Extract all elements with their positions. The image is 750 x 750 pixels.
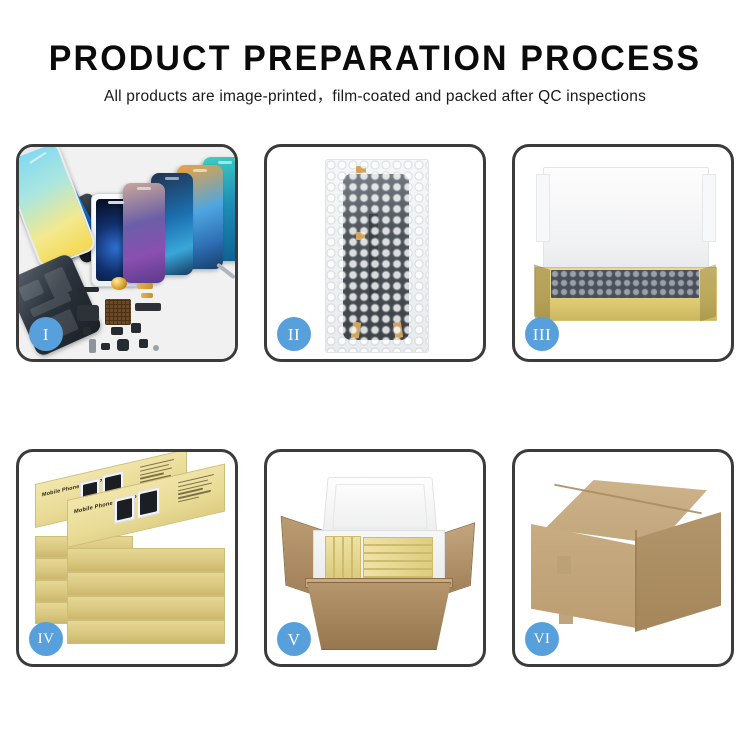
step-3-panel: III xyxy=(512,144,734,362)
step-4-panel: Mobile Phone Spare Parts xyxy=(16,449,238,667)
carton-tape-lower-icon xyxy=(559,608,573,624)
step-2-badge: II xyxy=(277,317,311,351)
box-lid-icon xyxy=(543,167,709,281)
stack-box-front-2 xyxy=(67,548,225,572)
carton-front-icon xyxy=(307,582,451,650)
carton-edge-icon xyxy=(635,530,637,630)
stack-box-front-3 xyxy=(67,572,225,596)
page-title: PRODUCT PREPARATION PROCESS xyxy=(11,40,739,78)
part-bar-icon xyxy=(77,287,99,292)
flex-cable-left-icon xyxy=(77,305,99,321)
bubble-wrapped-contents-icon xyxy=(551,270,699,298)
kraft-box-stack-icon: Mobile Phone Spare Parts xyxy=(33,466,225,656)
flex-cable-right-icon xyxy=(135,303,161,311)
step-5-badge: V xyxy=(277,622,311,656)
sim-tray-icon xyxy=(89,339,96,353)
chip-1-icon xyxy=(83,327,91,335)
open-kraft-box-icon xyxy=(535,167,715,337)
process-step-3: III xyxy=(512,144,734,362)
step-5-image: V xyxy=(267,452,483,664)
kraft-boxes-inside-icon xyxy=(323,536,433,584)
screw-set-icon xyxy=(153,345,159,351)
carton-tape-upper-icon xyxy=(557,556,571,574)
step-4-badge: IV xyxy=(29,622,63,656)
process-step-4: Mobile Phone Spare Parts xyxy=(16,449,238,667)
speaker-coil-icon xyxy=(111,277,127,290)
box-artwork-4 xyxy=(137,487,160,519)
step-2-image: II xyxy=(267,147,483,359)
step-2-panel: II xyxy=(264,144,486,362)
vibrator-icon xyxy=(139,339,148,348)
step-3-image: III xyxy=(515,147,731,359)
process-step-grid: I II xyxy=(16,144,734,674)
step-5-panel: V xyxy=(264,449,486,667)
product-preparation-infographic: PRODUCT PREPARATION PROCESS All products… xyxy=(0,0,750,750)
process-step-2: II xyxy=(264,144,486,362)
page-subtitle: All products are image-printed，film-coat… xyxy=(0,87,750,106)
gold-flex-2-icon xyxy=(141,293,153,298)
button-flex-icon xyxy=(101,343,110,350)
stack-box-front-5 xyxy=(67,620,225,644)
stack-box-front-4 xyxy=(67,596,225,620)
step-4-image: Mobile Phone Spare Parts xyxy=(19,452,235,664)
camera-module-icon xyxy=(117,339,129,351)
step-6-image: VI xyxy=(515,452,731,664)
step-3-badge: III xyxy=(525,317,559,351)
header: PRODUCT PREPARATION PROCESS All products… xyxy=(0,40,750,106)
phone-screen-purple-icon xyxy=(123,183,165,283)
connector-grid-icon xyxy=(105,299,131,325)
process-step-5: V xyxy=(264,449,486,667)
process-step-6: VI xyxy=(512,449,734,667)
box-fold-left-icon xyxy=(534,264,550,321)
process-step-1: I xyxy=(16,144,238,362)
sealed-carton-icon xyxy=(531,480,721,644)
box-fold-right-icon xyxy=(700,264,716,321)
bubble-texture xyxy=(326,160,428,352)
open-carton-icon xyxy=(285,474,471,650)
step-6-panel: VI xyxy=(512,449,734,667)
box-spec-lines-front xyxy=(178,474,214,505)
step-6-badge: VI xyxy=(525,622,559,656)
step-1-panel: I xyxy=(16,144,238,362)
bubble-wrap-pouch-icon xyxy=(325,159,429,353)
foam-lid-icon xyxy=(322,477,438,538)
chip-2-icon xyxy=(111,327,123,335)
step-1-badge: I xyxy=(29,317,63,351)
box-artwork-3 xyxy=(114,494,135,524)
gold-flex-icon xyxy=(137,283,153,289)
chip-3-icon xyxy=(131,323,141,333)
step-1-image: I xyxy=(19,147,235,359)
